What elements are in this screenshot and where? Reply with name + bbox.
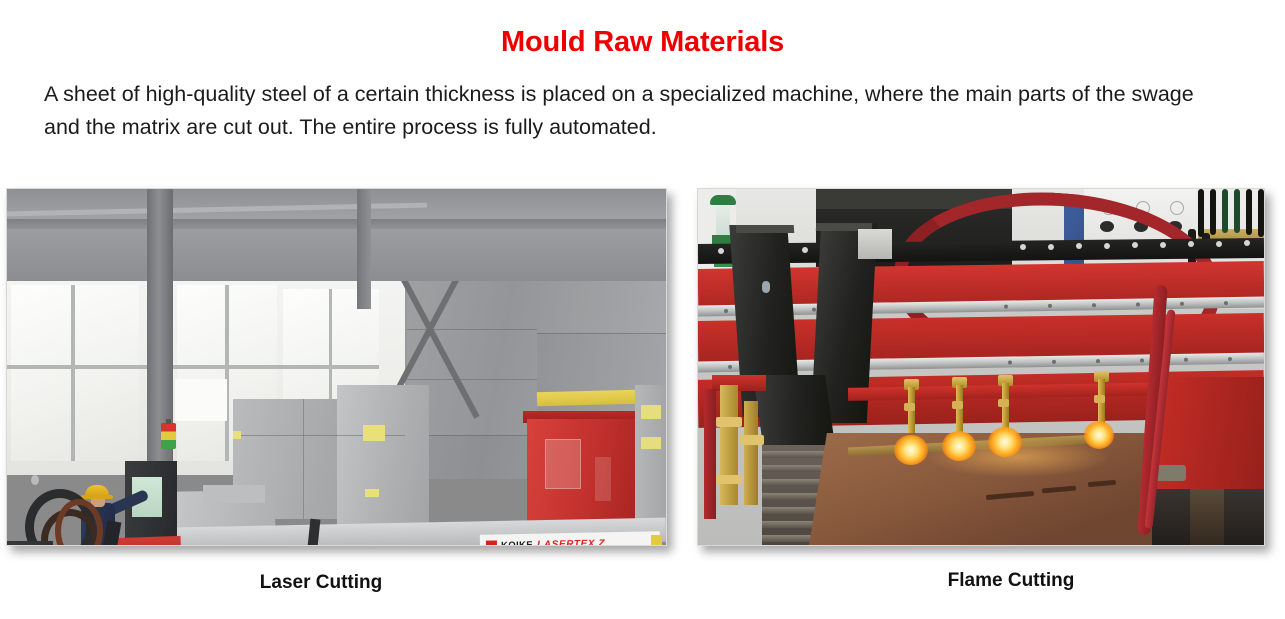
rail-bolt: [802, 247, 808, 253]
rail-bolt: [1020, 244, 1026, 250]
machine-model: LASERTEX Z: [537, 538, 605, 546]
rail-bolt: [1188, 241, 1194, 247]
brand-name: KOIKE: [501, 539, 533, 546]
torch-valve: [904, 403, 915, 411]
koike-logo-icon: [486, 540, 497, 546]
figure-laser-cutting[interactable]: KOIKE LASERTEX Z: [6, 188, 667, 546]
hose-bundle: [1246, 189, 1252, 235]
rail-bolt: [1048, 244, 1054, 250]
electrical-cabinet: [337, 385, 429, 525]
hose-red: [704, 389, 716, 519]
cabinet-sticker: [365, 489, 379, 497]
machine-shadow-block: [1190, 489, 1224, 545]
window-mullion: [7, 365, 379, 369]
tower-panel: [545, 439, 581, 489]
hose-bundle: [1234, 189, 1240, 233]
torch-stem: [720, 385, 738, 505]
laser-cutting-photo: KOIKE LASERTEX Z: [7, 189, 666, 545]
window-pane: [175, 379, 227, 421]
stack-light-icon: [161, 423, 176, 449]
cabinet-sticker: [363, 425, 385, 441]
torch-stem: [744, 401, 758, 505]
hard-hat-brim: [81, 495, 113, 499]
torch-valve: [998, 399, 1009, 407]
torch-fitting: [740, 435, 764, 445]
structural-column: [357, 189, 371, 309]
caption-flame-cutting: Flame Cutting: [697, 570, 1285, 592]
green-indicator-icon: [710, 195, 736, 205]
safety-post: [651, 535, 662, 546]
clutter-part: [31, 475, 39, 485]
emergency-light-body: [716, 203, 730, 237]
rail-bolt: [1216, 241, 1222, 247]
junction-box: [858, 229, 892, 259]
cabinet-seam: [303, 399, 304, 519]
window-mullion: [71, 285, 75, 461]
flame-4: [1084, 421, 1114, 449]
cover-handle[interactable]: [762, 281, 770, 293]
rail-bolt: [718, 248, 724, 254]
flame-2: [942, 431, 976, 461]
rail-bolt: [1132, 242, 1138, 248]
torch-valve: [1094, 395, 1105, 403]
figure-flame-cutting[interactable]: [697, 188, 1265, 546]
cabinet-sticker: [641, 437, 661, 449]
hose-bundle: [1222, 189, 1228, 233]
torch-valve: [952, 401, 963, 409]
torch-fitting: [714, 475, 742, 484]
upper-wall: [7, 229, 666, 281]
rail-bolt: [1160, 242, 1166, 248]
stack-light-tip: [166, 419, 171, 424]
flame-3: [988, 427, 1022, 457]
fitting: [1156, 465, 1186, 481]
wall-panel: [537, 273, 666, 334]
page-title: Mould Raw Materials: [0, 26, 1285, 59]
window-pane: [11, 285, 139, 461]
hose-bundle: [1210, 189, 1216, 235]
flame-cutting-photo: [698, 189, 1264, 545]
machine-dark-panel: [7, 541, 53, 546]
caption-laser-cutting: Laser Cutting: [6, 572, 636, 594]
machine-top-cover: [537, 390, 637, 407]
knob-ring: [1170, 201, 1184, 215]
bellows-cover-top: [736, 225, 795, 233]
hose-bundle: [1198, 189, 1204, 237]
page-description: A sheet of high-quality steel of a certa…: [44, 78, 1204, 144]
hose-bundle: [1258, 189, 1264, 237]
window-mullion: [225, 285, 229, 461]
console-red-base: [117, 536, 182, 546]
gantry-carriage-top: [203, 485, 265, 503]
rail-bolt: [1104, 243, 1110, 249]
machine-brand-plate: KOIKE LASERTEX Z: [480, 531, 660, 546]
flame-1: [894, 435, 928, 465]
rail-bolt: [1076, 243, 1082, 249]
rail-bolt: [1244, 240, 1250, 246]
cabinet-sticker: [641, 405, 661, 419]
slide-root: Mould Raw Materials A sheet of high-qual…: [0, 0, 1285, 619]
cabinet-sticker: [233, 431, 241, 439]
tower-panel: [595, 457, 611, 501]
torch-fitting: [716, 417, 742, 427]
